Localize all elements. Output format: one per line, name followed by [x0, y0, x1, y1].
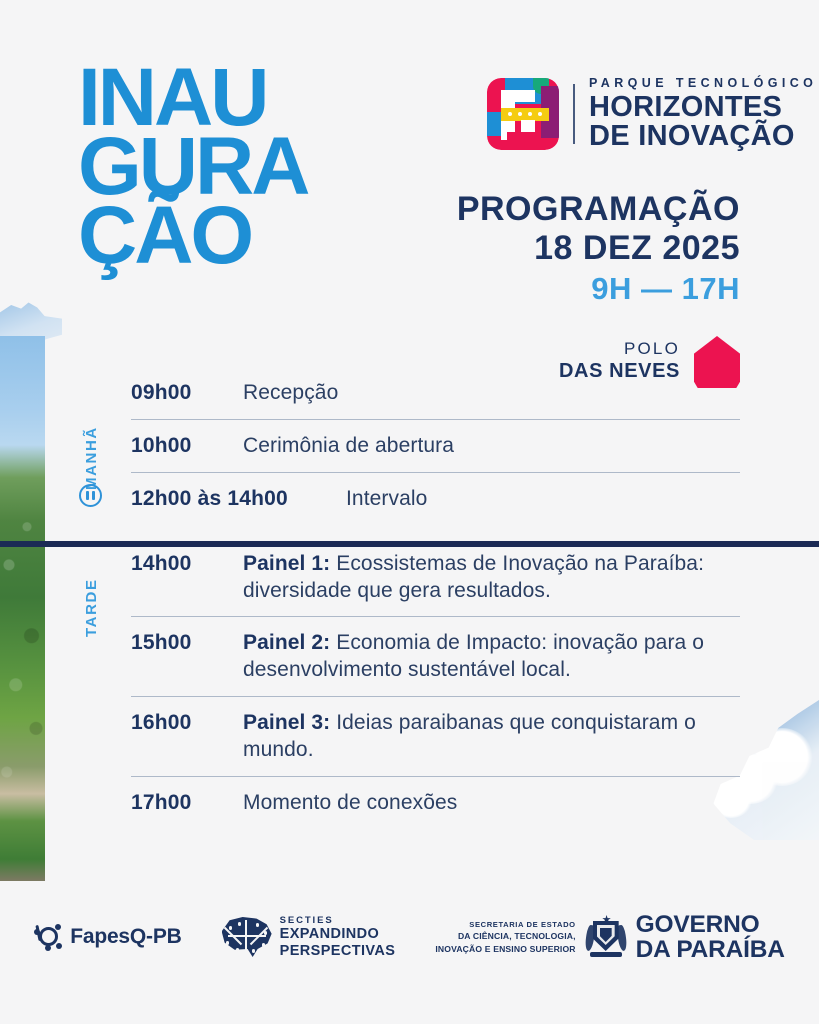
secties-kicker: SECTIES — [280, 915, 396, 926]
secties-text: SECTIES EXPANDINDO PERSPECTIVAS — [280, 915, 396, 960]
row-time: 14h00 — [131, 551, 243, 578]
horizontes-puzzle-logo-icon — [487, 78, 559, 150]
program-hours: 9H — 17H — [457, 270, 740, 307]
secties-line-1: EXPANDINDO — [280, 926, 396, 943]
table-row[interactable]: 15h00 Painel 2: Economia de Impacto: ino… — [131, 616, 740, 696]
period-tarde: TARDE 14h00 Painel 1: Ecossistemas de In… — [0, 547, 819, 829]
row-desc: Painel 2: Economia de Impacto: inovação … — [243, 630, 740, 684]
table-row[interactable]: 09h00 Recepção — [131, 376, 740, 419]
brand-lockup: PARQUE TECNOLÓGICO HORIZONTES DE INOVAÇÃ… — [487, 76, 817, 151]
brand-name-line-2: DE INOVAÇÃO — [589, 122, 817, 151]
secties-logo: SECTIES EXPANDINDO PERSPECTIVAS — [222, 915, 396, 960]
period-label-tarde: TARDE — [83, 553, 100, 637]
period-label-manha: MANHÃ — [83, 384, 100, 490]
table-row[interactable]: 10h00 Cerimônia de abertura — [131, 419, 740, 472]
table-row[interactable]: 17h00 Momento de conexões — [131, 776, 740, 829]
row-desc: Momento de conexões — [243, 790, 457, 817]
table-row[interactable]: 16h00 Painel 3: Ideias paraibanas que co… — [131, 696, 740, 776]
row-time: 12h00 às 14h00 — [131, 486, 346, 513]
program-block: PROGRAMAÇÃO 18 DEZ 2025 9H — 17H — [457, 190, 740, 307]
brand-kicker: PARQUE TECNOLÓGICO — [589, 76, 817, 90]
headline-line-3: ÇÃO — [78, 202, 307, 271]
row-desc-label: Painel 1: — [243, 552, 330, 575]
governo-text: GOVERNO DA PARAÍBA — [636, 912, 785, 962]
fapesq-logo: FapesQ-PB — [34, 923, 181, 951]
fapesq-label: FapesQ-PB — [70, 925, 181, 949]
row-desc: Intervalo — [346, 486, 427, 513]
footer-logos: FapesQ-PB SECTIES EXPANDIN — [0, 912, 819, 962]
governo-line-2: DA PARAÍBA — [636, 937, 785, 962]
row-time: 17h00 — [131, 790, 243, 817]
governo-line-1: GOVERNO — [636, 912, 785, 937]
secties-line-2: PERSPECTIVAS — [280, 943, 396, 960]
pause-icon — [79, 484, 102, 507]
row-desc: Cerimônia de abertura — [243, 433, 454, 460]
secretaria-line-3: INOVAÇÃO E ENSINO SUPERIOR — [435, 943, 575, 955]
table-row[interactable]: 14h00 Painel 1: Ecossistemas de Inovação… — [131, 547, 740, 617]
table-row[interactable]: 12h00 às 14h00 Intervalo — [131, 472, 740, 525]
row-desc: Painel 1: Ecossistemas de Inovação na Pa… — [243, 551, 740, 605]
row-desc-label: Painel 3: — [243, 711, 330, 734]
polo-kicker: POLO — [559, 340, 680, 359]
brand-divider — [573, 84, 575, 144]
poster-canvas: INAU GURA ÇÃO PARQUE TECNOLÓGICO HORIZON… — [0, 0, 819, 1024]
schedule: MANHÃ 09h00 Recepção 10h00 Cerimônia de … — [0, 376, 819, 829]
program-date: 18 DEZ 2025 — [457, 229, 740, 268]
paraiba-coat-of-arms-icon: ★ — [584, 915, 628, 959]
period-rows-tarde: 14h00 Painel 1: Ecossistemas de Inovação… — [131, 547, 740, 829]
row-desc: Recepção — [243, 380, 338, 407]
secretaria-line-1: SECRETARIA DE ESTADO — [435, 919, 575, 930]
brand-name-line-1: HORIZONTES — [589, 93, 817, 122]
program-title: PROGRAMAÇÃO — [457, 190, 740, 229]
brand-text: PARQUE TECNOLÓGICO HORIZONTES DE INOVAÇÃ… — [589, 76, 817, 151]
secretaria-text: SECRETARIA DE ESTADO DA CIÊNCIA, TECNOLO… — [435, 919, 575, 955]
poster-headline: INAU GURA ÇÃO — [78, 64, 307, 271]
row-time: 10h00 — [131, 433, 243, 460]
row-time: 09h00 — [131, 380, 243, 407]
governo-logo: SECRETARIA DE ESTADO DA CIÊNCIA, TECNOLO… — [435, 912, 784, 962]
row-desc: Painel 3: Ideias paraibanas que conquist… — [243, 710, 740, 764]
fapesq-atom-icon — [34, 923, 62, 951]
period-rows-manha: 09h00 Recepção 10h00 Cerimônia de abertu… — [131, 376, 740, 525]
brain-icon — [222, 917, 272, 957]
row-time: 15h00 — [131, 630, 243, 657]
row-desc-label: Painel 2: — [243, 631, 330, 654]
row-time: 16h00 — [131, 710, 243, 737]
secretaria-line-2: DA CIÊNCIA, TECNOLOGIA, — [435, 930, 575, 942]
period-manha: MANHÃ 09h00 Recepção 10h00 Cerimônia de … — [0, 376, 819, 525]
